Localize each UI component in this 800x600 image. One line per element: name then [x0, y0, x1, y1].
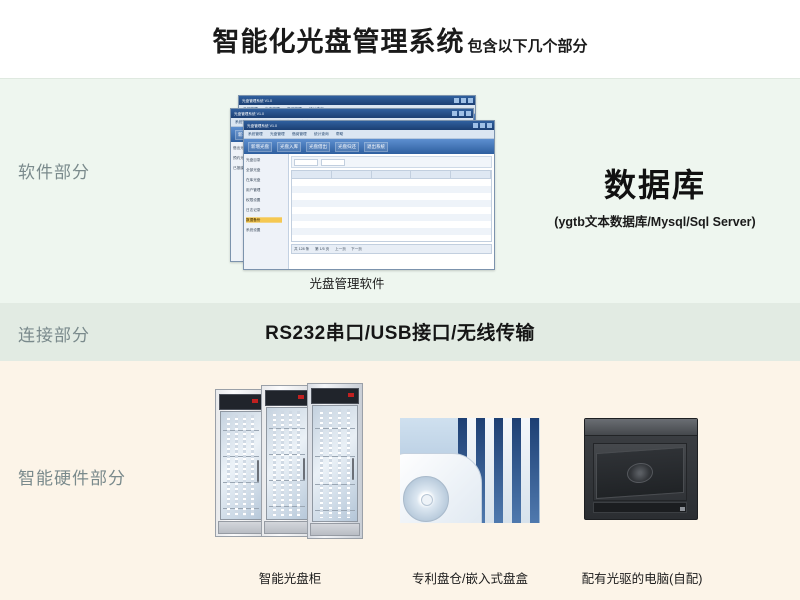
- page-header: 智能化光盘管理系统 包含以下几个部分: [0, 0, 800, 78]
- software-band-label: 软件部分: [18, 158, 90, 183]
- menu-item: 系统管理: [248, 131, 263, 137]
- grid-footer-item: 共 128 条: [294, 246, 309, 251]
- menu-item: 借阅管理: [292, 131, 307, 137]
- sidebar-item: 全部光盘: [246, 167, 282, 172]
- optical-drive-bay: [593, 443, 687, 501]
- cabinet-glass-door: [266, 407, 308, 520]
- software-caption: 光盘管理软件: [232, 273, 462, 292]
- menu-item: 光盘管理: [270, 131, 285, 137]
- software-screenshot-front: 光盘管理系统 V1.0 系统管理 光盘管理 借阅管理 统计查询 帮助 新增光盘 …: [243, 120, 495, 270]
- cabinet-display-panel: [219, 394, 263, 410]
- database-block: 数据库 (ygtb文本数据库/Mysql/Sql Server): [520, 160, 790, 230]
- computer-chassis: [584, 418, 698, 520]
- toolbar-button: 光盘归还: [335, 142, 359, 152]
- smart-disc-cabinet-image: [215, 383, 365, 543]
- chassis-top-bar: [585, 419, 697, 436]
- disc-bin-image: [400, 418, 540, 523]
- screenshot-titlebar: 光盘管理系统 V1.0: [231, 109, 473, 118]
- grid-footer-item: 下一页: [351, 246, 362, 251]
- disc-icon: [403, 476, 449, 522]
- toolbar-button: 退出系统: [364, 142, 388, 152]
- cabinet-glass-door: [220, 411, 262, 520]
- optical-drive-tray: [596, 447, 684, 499]
- cabinet-unit-middle: [261, 385, 313, 537]
- toolbar-button: 光盘入库: [277, 142, 301, 152]
- cabinet-base: [310, 523, 360, 536]
- window-controls: [473, 123, 492, 128]
- toolbar-button: 光盘借出: [306, 142, 330, 152]
- screenshot-toolbar: 新增光盘 光盘入库 光盘借出 光盘归还 退出系统: [244, 139, 494, 154]
- cabinet-caption: 智能光盘柜: [215, 568, 365, 587]
- screenshot-window-title: 光盘管理系统 V1.0: [234, 111, 264, 116]
- drive-spindle-icon: [627, 462, 653, 484]
- sidebar-item: 光盘目录: [246, 157, 282, 162]
- menu-item: 统计查询: [314, 131, 329, 137]
- database-subtitle: (ygtb文本数据库/Mysql/Sql Server): [520, 211, 790, 230]
- disc-bin-photo: [400, 418, 540, 523]
- sidebar-item-selected: 数据备份: [246, 217, 282, 222]
- database-title: 数据库: [520, 160, 790, 206]
- grid-footer-item: 上一页: [335, 246, 346, 251]
- diagram-page: 智能化光盘管理系统 包含以下几个部分 软件部分 光盘管理系统 V1.0 系统管理…: [0, 0, 800, 600]
- page-title: 智能化光盘管理系统: [212, 20, 464, 59]
- search-input: [294, 159, 318, 166]
- screenshot-grid-header: [291, 170, 492, 179]
- sidebar-item: 用户管理: [246, 187, 282, 192]
- screenshot-body: 光盘目录 全部光盘 在库光盘 用户管理 权限设置 日志记录 数据备份 系统设置 …: [244, 154, 494, 270]
- screenshot-main: 共 128 条 第 1/5 页 上一页 下一页: [289, 154, 494, 270]
- cabinet-display-panel: [311, 388, 359, 404]
- screenshot-titlebar: 光盘管理系统 V1.0: [239, 96, 475, 105]
- screenshot-grid-rows: [291, 179, 492, 242]
- sidebar-item: 权限设置: [246, 197, 282, 202]
- window-controls: [452, 111, 471, 116]
- search-input-secondary: [321, 159, 345, 166]
- disc-bin-shell: [400, 453, 482, 523]
- screenshot-titlebar: 光盘管理系统 V1.0: [244, 121, 494, 130]
- screenshot-sidebar: 光盘目录 全部光盘 在库光盘 用户管理 权限设置 日志记录 数据备份 系统设置: [244, 154, 289, 270]
- connection-text: RS232串口/USB接口/无线传输: [0, 318, 800, 345]
- toolbar-button: 新增光盘: [248, 142, 272, 152]
- screenshot-window-title: 光盘管理系统 V1.0: [242, 98, 272, 103]
- eject-button: [680, 507, 685, 511]
- sidebar-item: 系统设置: [246, 227, 282, 232]
- disc-bin-caption: 专利盘仓/嵌入式盘盒: [398, 568, 542, 587]
- sidebar-item: 在库光盘: [246, 177, 282, 182]
- computer-with-drive-image: [578, 418, 706, 528]
- window-controls: [454, 98, 473, 103]
- screenshot-menubar: 系统管理 光盘管理 借阅管理 统计查询 帮助: [244, 130, 494, 139]
- menu-item: 帮助: [336, 131, 343, 137]
- screenshot-grid-footer: 共 128 条 第 1/5 页 上一页 下一页: [291, 244, 492, 254]
- cabinet-base: [218, 521, 264, 534]
- chassis-slot: [593, 502, 687, 513]
- cabinet-base: [264, 521, 310, 534]
- grid-footer-item: 第 1/5 页: [315, 246, 329, 251]
- cabinet-unit-left: [215, 389, 267, 537]
- cabinet-unit-right: [307, 383, 363, 539]
- computer-caption: 配有光驱的电脑(自配): [570, 568, 714, 587]
- screenshot-search-bar: [291, 156, 492, 168]
- cabinet-display-panel: [265, 390, 309, 406]
- hardware-band-label: 智能硬件部分: [18, 464, 126, 489]
- sidebar-item: 日志记录: [246, 207, 282, 212]
- header-title-group: 智能化光盘管理系统 包含以下几个部分: [212, 20, 587, 59]
- screenshot-window-title: 光盘管理系统 V1.0: [247, 123, 277, 128]
- page-subtitle: 包含以下几个部分: [467, 35, 587, 56]
